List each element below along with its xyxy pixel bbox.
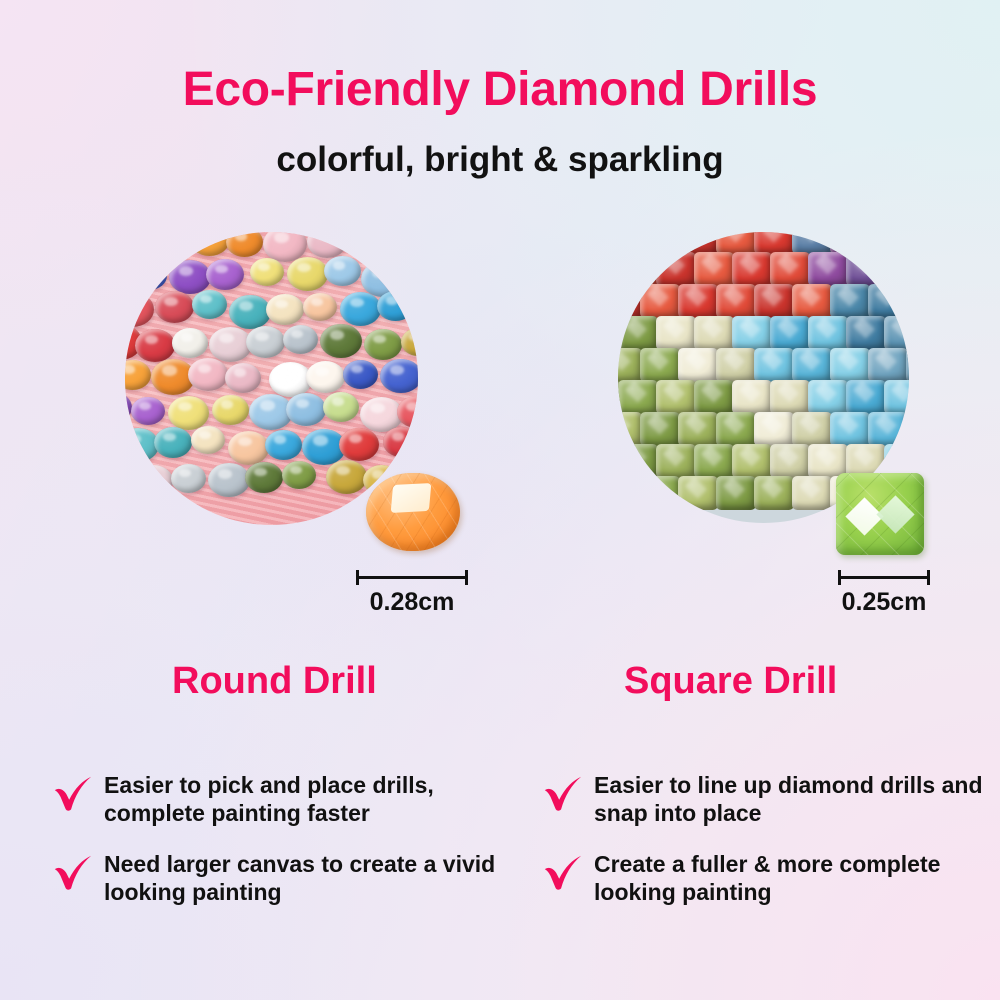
check-mark-icon — [50, 851, 96, 897]
list-item: Need larger canvas to create a vivid loo… — [50, 849, 500, 906]
square-drill-sample-gem — [836, 473, 924, 555]
ruler-line — [838, 576, 930, 579]
ruler-line — [356, 576, 468, 579]
ruler-cap-right — [927, 570, 930, 585]
square-drill-feature-list: Easier to line up diamond drills and sna… — [540, 770, 990, 928]
ruler-bar — [356, 570, 468, 584]
check-mark-icon — [540, 772, 586, 818]
round-drill-size-label: 0.28cm — [356, 588, 468, 617]
ruler-bar — [838, 570, 930, 584]
round-drill-heading: Round Drill — [172, 660, 377, 703]
list-item: Easier to pick and place drills, complet… — [50, 770, 500, 827]
infographic-poster: Eco-Friendly Diamond Drills colorful, br… — [0, 0, 1000, 1000]
feature-text: Easier to line up diamond drills and sna… — [594, 770, 990, 827]
round-drill-sample-gem — [366, 473, 460, 551]
round-drill-size-ruler: 0.28cm — [356, 570, 468, 617]
feature-text: Easier to pick and place drills, complet… — [104, 770, 500, 827]
square-drill-size-ruler: 0.25cm — [838, 570, 930, 617]
list-item: Create a fuller & more complete looking … — [540, 849, 990, 906]
round-gem-highlight — [391, 483, 431, 513]
list-item: Easier to line up diamond drills and sna… — [540, 770, 990, 827]
check-mark-icon — [540, 851, 586, 897]
page-subtitle: colorful, bright & sparkling — [0, 140, 1000, 180]
page-title: Eco-Friendly Diamond Drills — [0, 62, 1000, 117]
square-drill-size-label: 0.25cm — [838, 588, 930, 617]
ruler-cap-right — [465, 570, 468, 585]
square-drill-heading: Square Drill — [624, 660, 837, 703]
round-drill-feature-list: Easier to pick and place drills, complet… — [50, 770, 500, 928]
check-mark-icon — [50, 772, 96, 818]
feature-text: Create a fuller & more complete looking … — [594, 849, 990, 906]
feature-text: Need larger canvas to create a vivid loo… — [104, 849, 500, 906]
